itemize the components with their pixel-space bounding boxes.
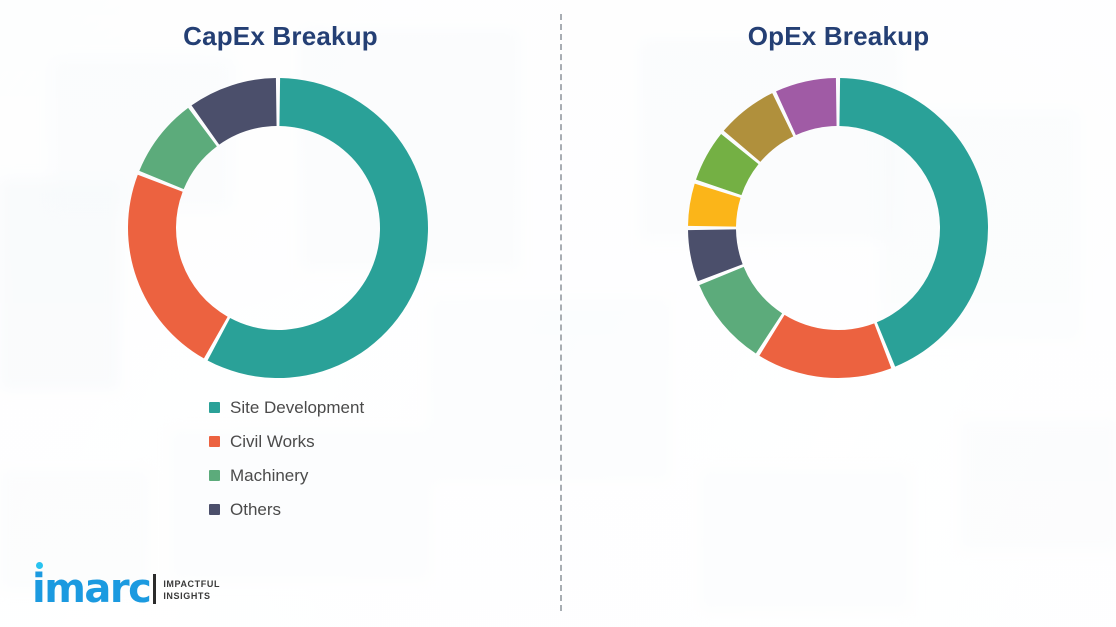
legend-label: Machinery [230, 467, 308, 484]
legend-label: Civil Works [230, 433, 315, 450]
logo-wordmark-text: imarc [32, 566, 150, 612]
logo-tagline: IMPACTFUL INSIGHTS [163, 579, 220, 606]
legend-item-capex-2[interactable]: Machinery [209, 458, 364, 492]
capex-donut-chart [127, 77, 429, 379]
logo-tagline-line2: INSIGHTS [163, 591, 220, 603]
logo-wordmark: imarc [32, 573, 150, 606]
legend-swatch-icon [209, 470, 220, 481]
opex-panel: OpEx Breakup Raw MaterialsSalaries and W… [561, 0, 1116, 627]
capex-donut-svg [127, 77, 429, 379]
legend-item-capex-0[interactable]: Site Development [209, 390, 364, 424]
donut-slice [839, 78, 988, 367]
imarc-logo: imarc IMPACTFUL INSIGHTS [32, 566, 220, 606]
opex-donut-svg [687, 77, 989, 379]
opex-donut-chart [687, 77, 989, 379]
legend-item-capex-1[interactable]: Civil Works [209, 424, 364, 458]
logo-separator-bar [153, 574, 156, 604]
donut-slice [128, 175, 228, 359]
legend-swatch-icon [209, 436, 220, 447]
opex-chart-title: OpEx Breakup [561, 21, 1116, 52]
logo-tagline-line1: IMPACTFUL [163, 579, 220, 591]
panel-divider [560, 14, 562, 611]
legend-label: Others [230, 501, 281, 518]
capex-legend: Site DevelopmentCivil WorksMachineryOthe… [209, 390, 364, 526]
legend-label: Site Development [230, 399, 364, 416]
legend-swatch-icon [209, 402, 220, 413]
donut-slice [759, 315, 891, 378]
legend-swatch-icon [209, 504, 220, 515]
legend-item-capex-3[interactable]: Others [209, 492, 364, 526]
capex-panel: CapEx Breakup Site DevelopmentCivil Work… [0, 0, 561, 627]
capex-chart-title: CapEx Breakup [0, 21, 561, 52]
